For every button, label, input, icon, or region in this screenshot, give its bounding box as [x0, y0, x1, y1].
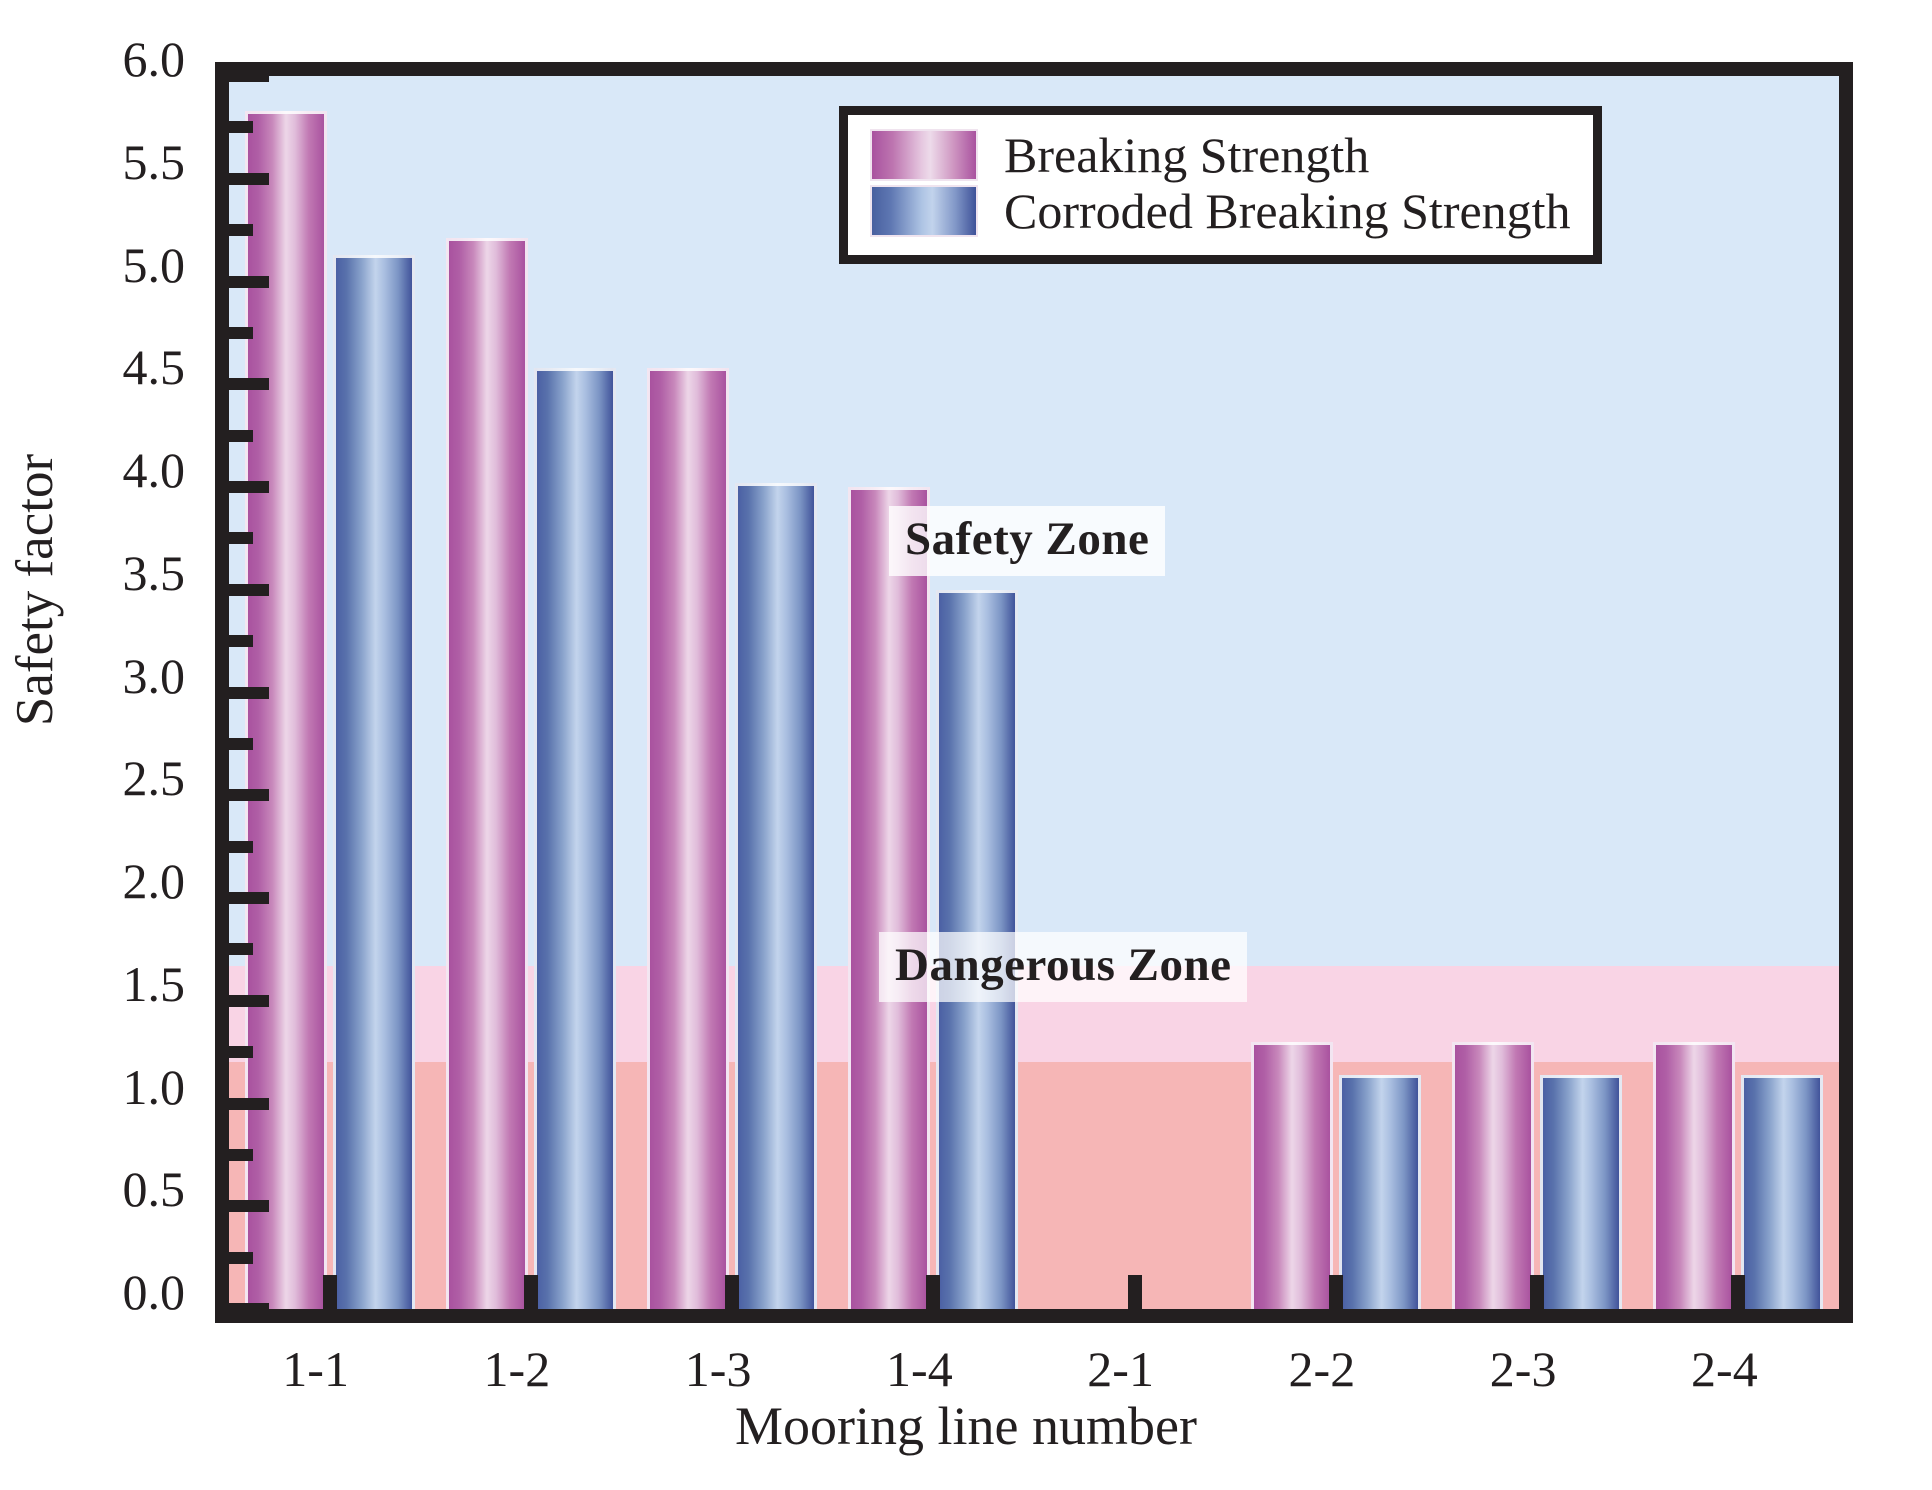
- bar-1-2-breaking-strength: [446, 238, 528, 1309]
- x-tick-label-1-4: 1-4: [886, 1340, 953, 1398]
- y-tick-minor-2.75: [229, 738, 253, 750]
- y-tick-major-3.5: [229, 584, 269, 596]
- x-tick-2-3: [1530, 1275, 1544, 1309]
- y-tick-major-2.5: [229, 789, 269, 801]
- y-tick-major-5.5: [229, 173, 269, 185]
- y-tick-major-5.0: [229, 276, 269, 288]
- y-tick-major-4.5: [229, 378, 269, 390]
- y-tick-label-1.0: 1.0: [0, 1058, 185, 1116]
- bar-1-1-corroded-breaking-strength: [333, 255, 415, 1309]
- bar-2-4-corroded-breaking-strength: [1741, 1075, 1823, 1309]
- y-tick-label-0.5: 0.5: [0, 1160, 185, 1218]
- x-tick-1-1: [323, 1275, 337, 1309]
- x-tick-2-4: [1731, 1275, 1745, 1309]
- chart-figure: Safety factor 0.00.51.01.52.02.53.03.54.…: [0, 0, 1932, 1490]
- y-tick-minor-2.25: [229, 841, 253, 853]
- bar-1-4-breaking-strength: [848, 487, 930, 1309]
- y-tick-minor-4.25: [229, 430, 253, 442]
- x-tick-label-2-3: 2-3: [1490, 1340, 1557, 1398]
- y-tick-minor-1.25: [229, 1046, 253, 1058]
- y-tick-minor-0.75: [229, 1149, 253, 1161]
- y-tick-major-0.0: [229, 1303, 269, 1309]
- y-tick-label-4.0: 4.0: [0, 441, 185, 499]
- bar-2-3-corroded-breaking-strength: [1540, 1075, 1622, 1309]
- legend-item-corroded-breaking-strength[interactable]: Corroded Breaking Strength: [870, 185, 1571, 237]
- y-tick-minor-1.75: [229, 943, 253, 955]
- y-tick-label-5.0: 5.0: [0, 236, 185, 294]
- y-tick-label-1.5: 1.5: [0, 955, 185, 1013]
- dangerous-zone-annotation: Dangerous Zone: [879, 932, 1247, 1002]
- bar-2-2-breaking-strength: [1251, 1042, 1333, 1309]
- y-tick-minor-3.75: [229, 532, 253, 544]
- y-tick-minor-3.25: [229, 635, 253, 647]
- x-tick-label-1-3: 1-3: [685, 1340, 752, 1398]
- y-tick-major-6.0: [229, 76, 269, 82]
- bar-2-2-corroded-breaking-strength: [1339, 1075, 1421, 1309]
- y-tick-label-6.0: 6.0: [0, 30, 185, 88]
- y-tick-minor-5.25: [229, 224, 253, 236]
- y-tick-label-2.5: 2.5: [0, 749, 185, 807]
- y-tick-major-1.0: [229, 1098, 269, 1110]
- y-tick-label-3.5: 3.5: [0, 544, 185, 602]
- y-tick-major-4.0: [229, 481, 269, 493]
- bar-2-3-breaking-strength: [1452, 1042, 1534, 1309]
- plot-frame: Safety Zone Dangerous Zone Breaking Stre…: [215, 62, 1853, 1323]
- x-tick-label-2-1: 2-1: [1087, 1340, 1154, 1398]
- x-axis-title: Mooring line number: [0, 1395, 1932, 1457]
- y-tick-minor-4.75: [229, 327, 253, 339]
- y-tick-major-1.5: [229, 995, 269, 1007]
- x-tick-1-4: [926, 1275, 940, 1309]
- bar-1-3-breaking-strength: [647, 368, 729, 1309]
- y-tick-major-3.0: [229, 687, 269, 699]
- x-tick-2-2: [1329, 1275, 1343, 1309]
- x-tick-2-1: [1128, 1275, 1142, 1309]
- y-tick-label-0.0: 0.0: [0, 1263, 185, 1321]
- x-tick-label-2-4: 2-4: [1691, 1340, 1758, 1398]
- legend-label-breaking-strength: Breaking Strength: [1004, 130, 1369, 180]
- chart-legend[interactable]: Breaking Strength Corroded Breaking Stre…: [839, 106, 1602, 264]
- x-tick-label-1-2: 1-2: [484, 1340, 551, 1398]
- y-tick-major-0.5: [229, 1200, 269, 1212]
- y-tick-minor-5.75: [229, 121, 253, 133]
- breaking-strength-swatch-icon: [870, 129, 978, 181]
- x-tick-label-2-2: 2-2: [1289, 1340, 1356, 1398]
- x-tick-1-3: [725, 1275, 739, 1309]
- y-tick-minor-0.25: [229, 1252, 253, 1264]
- y-tick-major-2.0: [229, 892, 269, 904]
- bar-1-1-breaking-strength: [245, 111, 327, 1309]
- safety-zone-annotation: Safety Zone: [889, 506, 1165, 576]
- corroded-breaking-strength-swatch-icon: [870, 185, 978, 237]
- bar-2-4-breaking-strength: [1653, 1042, 1735, 1309]
- legend-label-corroded-breaking-strength: Corroded Breaking Strength: [1004, 186, 1571, 236]
- x-tick-1-2: [524, 1275, 538, 1309]
- y-tick-label-3.0: 3.0: [0, 647, 185, 705]
- y-tick-label-2.0: 2.0: [0, 852, 185, 910]
- bar-1-2-corroded-breaking-strength: [534, 368, 616, 1309]
- bar-1-3-corroded-breaking-strength: [735, 483, 817, 1309]
- x-tick-label-1-1: 1-1: [282, 1340, 349, 1398]
- y-tick-label-4.5: 4.5: [0, 338, 185, 396]
- y-tick-label-5.5: 5.5: [0, 133, 185, 191]
- legend-item-breaking-strength[interactable]: Breaking Strength: [870, 129, 1571, 181]
- plot-area: Safety Zone Dangerous Zone Breaking Stre…: [229, 76, 1839, 1309]
